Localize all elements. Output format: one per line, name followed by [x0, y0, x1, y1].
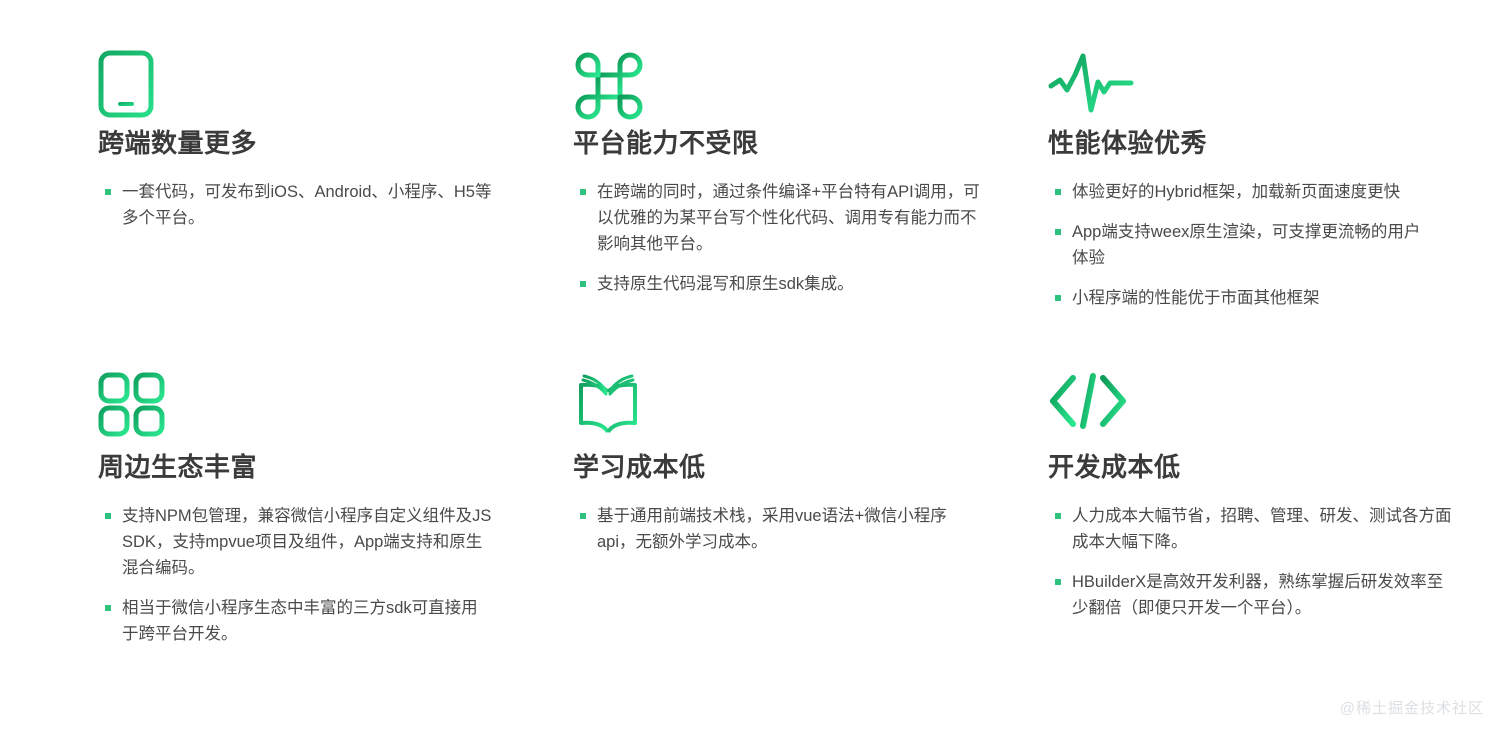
feature-point: 小程序端的性能优于市面其他框架	[1048, 285, 1422, 311]
pulse-wave-icon	[1048, 50, 1483, 122]
feature-card-learning-cost: 学习成本低 基于通用前端技术栈，采用vue语法+微信小程序api，无额外学习成本…	[573, 372, 1048, 694]
feature-point: HBuilderX是高效开发利器，熟练掌握后研发效率至少翻倍（即便只开发一个平台…	[1048, 569, 1457, 621]
feature-card-ecosystem: 周边生态丰富 支持NPM包管理，兼容微信小程序自定义组件及JS SDK，支持mp…	[98, 372, 573, 694]
feature-card-cross-platform-count: 跨端数量更多 一套代码，可发布到iOS、Android、小程序、H5等多个平台。	[98, 50, 573, 372]
grid-squares-icon	[98, 372, 533, 446]
command-key-icon	[573, 50, 1008, 122]
feature-point: 支持原生代码混写和原生sdk集成。	[573, 271, 982, 297]
feature-points-list: 支持NPM包管理，兼容微信小程序自定义组件及JS SDK，支持mpvue项目及组…	[98, 503, 533, 647]
feature-point: App端支持weex原生渲染，可支撑更流畅的用户体验	[1048, 219, 1422, 271]
open-book-icon	[573, 372, 1008, 446]
feature-point: 基于通用前端技术栈，采用vue语法+微信小程序api，无额外学习成本。	[573, 503, 967, 555]
feature-card-performance: 性能体验优秀 体验更好的Hybrid框架，加载新页面速度更快 App端支持wee…	[1048, 50, 1512, 372]
feature-title: 性能体验优秀	[1048, 128, 1483, 159]
feature-title: 开发成本低	[1048, 452, 1483, 483]
feature-point: 支持NPM包管理，兼容微信小程序自定义组件及JS SDK，支持mpvue项目及组…	[98, 503, 492, 581]
code-brackets-icon	[1048, 372, 1483, 446]
feature-points-list: 体验更好的Hybrid框架，加载新页面速度更快 App端支持weex原生渲染，可…	[1048, 179, 1483, 311]
feature-title: 周边生态丰富	[98, 452, 533, 483]
watermark: @稀土掘金技术社区	[1340, 697, 1484, 718]
feature-title: 平台能力不受限	[573, 128, 1008, 159]
features-grid: 跨端数量更多 一套代码，可发布到iOS、Android、小程序、H5等多个平台。	[0, 0, 1512, 738]
feature-point: 在跨端的同时，通过条件编译+平台特有API调用，可以优雅的为某平台写个性化代码、…	[573, 179, 982, 257]
feature-title: 跨端数量更多	[98, 128, 533, 159]
feature-points-list: 人力成本大幅节省，招聘、管理、研发、测试各方面成本大幅下降。 HBuilderX…	[1048, 503, 1483, 621]
feature-card-platform-capability: 平台能力不受限 在跨端的同时，通过条件编译+平台特有API调用，可以优雅的为某平…	[573, 50, 1048, 372]
feature-card-development-cost: 开发成本低 人力成本大幅节省，招聘、管理、研发、测试各方面成本大幅下降。 HBu…	[1048, 372, 1512, 694]
feature-points-list: 在跨端的同时，通过条件编译+平台特有API调用，可以优雅的为某平台写个性化代码、…	[573, 179, 1008, 297]
feature-points-list: 一套代码，可发布到iOS、Android、小程序、H5等多个平台。	[98, 179, 533, 231]
feature-point: 人力成本大幅节省，招聘、管理、研发、测试各方面成本大幅下降。	[1048, 503, 1457, 555]
feature-points-list: 基于通用前端技术栈，采用vue语法+微信小程序api，无额外学习成本。	[573, 503, 1008, 555]
mobile-phone-icon	[98, 50, 533, 122]
feature-point: 相当于微信小程序生态中丰富的三方sdk可直接用于跨平台开发。	[98, 595, 492, 647]
feature-point: 体验更好的Hybrid框架，加载新页面速度更快	[1048, 179, 1422, 205]
feature-title: 学习成本低	[573, 452, 1008, 483]
feature-point: 一套代码，可发布到iOS、Android、小程序、H5等多个平台。	[98, 179, 492, 231]
